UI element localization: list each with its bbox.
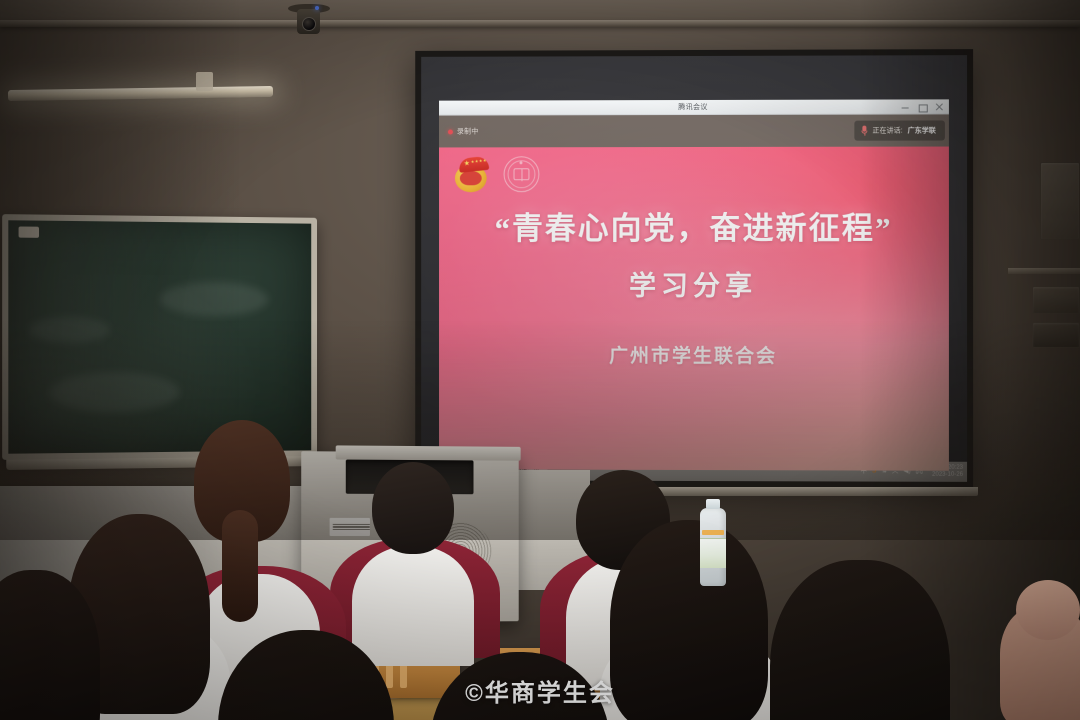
recording-status: 录制中 xyxy=(448,126,479,136)
record-dot-icon xyxy=(448,129,453,134)
water-bottle xyxy=(700,508,726,586)
bottle-label-strip xyxy=(702,530,724,535)
classroom-scene: 屏幕二集 搜索 腾讯会议 中 S ⇅ ︿ ◀) � xyxy=(0,0,1080,720)
camera-led-icon xyxy=(315,6,319,10)
slide-subtitle: 学习分享 xyxy=(629,264,757,303)
security-camera-icon xyxy=(288,4,330,40)
bottle-cap xyxy=(706,499,720,509)
watermark: ©华商学生会 xyxy=(0,673,1080,708)
slide-title: “青春心向党，奋进新征程” xyxy=(495,203,893,248)
window-title: 腾讯会议 xyxy=(678,102,708,112)
recording-label: 录制中 xyxy=(457,126,479,136)
camera-lens xyxy=(302,17,316,31)
bottle-label xyxy=(700,538,726,568)
